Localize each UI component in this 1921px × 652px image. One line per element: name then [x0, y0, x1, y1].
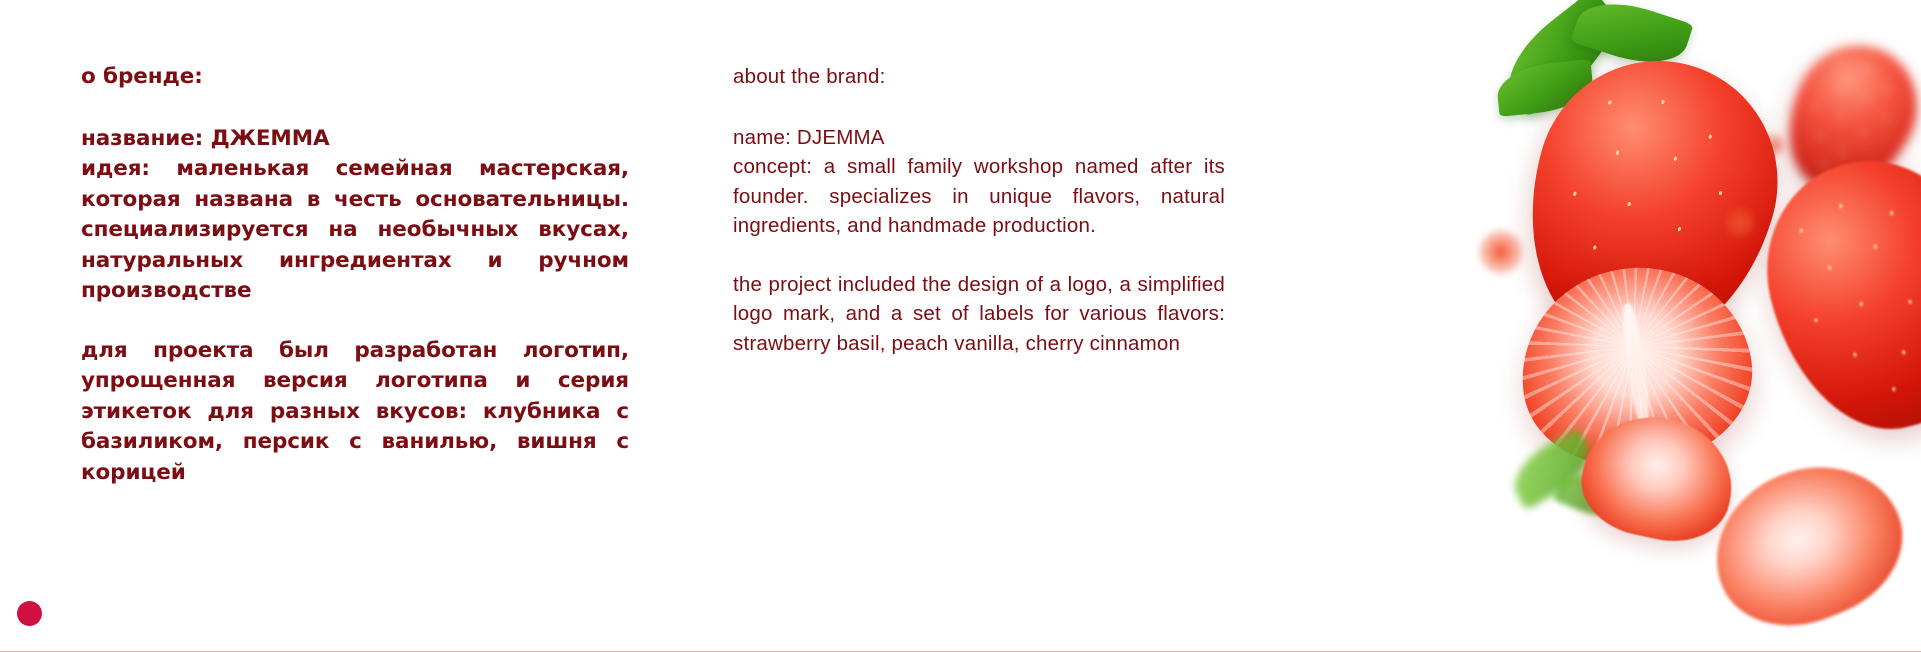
- spacer: [81, 307, 629, 336]
- russian-name-line: название: ДЖЕММА: [81, 124, 629, 155]
- russian-text-column: о бренде: название: ДЖЕММА идея: маленьк…: [81, 62, 629, 488]
- strawberry-slice: [1692, 440, 1921, 650]
- leaf-icon: [1503, 428, 1600, 511]
- strawberries-photo: [1321, 0, 1921, 652]
- spacer: [733, 92, 1225, 123]
- red-dot-decoration: [17, 601, 42, 626]
- strawberry-whole-right: [1743, 139, 1921, 452]
- english-text-column: about the brand: name: DJEMMA concept: a…: [733, 62, 1225, 358]
- english-heading: about the brand:: [733, 62, 1225, 92]
- leaf-icon: [1495, 59, 1595, 117]
- leaf-icon: [1552, 464, 1631, 525]
- strawberry-half-cut: [1508, 253, 1763, 479]
- english-name-value: DJEMMA: [797, 126, 885, 149]
- leaf-icon: [1570, 0, 1693, 76]
- russian-project-paragraph: для проекта был разработан логотип, упро…: [81, 336, 629, 489]
- english-name-line: name: DJEMMA: [733, 123, 1225, 153]
- juice-spray-icon: [1477, 228, 1525, 276]
- juice-spray-icon: [1761, 132, 1787, 158]
- strawberry-blurred-small: [1764, 25, 1921, 212]
- spacer: [81, 93, 629, 124]
- juice-spray-icon: [1723, 206, 1757, 240]
- strawberry-slice: [1572, 404, 1744, 553]
- russian-idea-paragraph: идея: маленькая семейная мастерская, кот…: [81, 154, 629, 307]
- brand-presentation-slide: о бренде: название: ДЖЕММА идея: маленьк…: [0, 0, 1921, 652]
- russian-heading: о бренде:: [81, 62, 629, 93]
- leaf-icon: [1491, 0, 1632, 117]
- spacer: [733, 241, 1225, 270]
- english-name-label: name:: [733, 126, 791, 149]
- english-concept-paragraph: concept: a small family workshop named a…: [733, 152, 1225, 241]
- english-project-paragraph: the project included the design of a log…: [733, 270, 1225, 359]
- russian-name-value: ДЖЕММА: [211, 126, 330, 151]
- strawberry-whole-large: [1496, 33, 1807, 378]
- russian-name-label: название:: [81, 126, 203, 151]
